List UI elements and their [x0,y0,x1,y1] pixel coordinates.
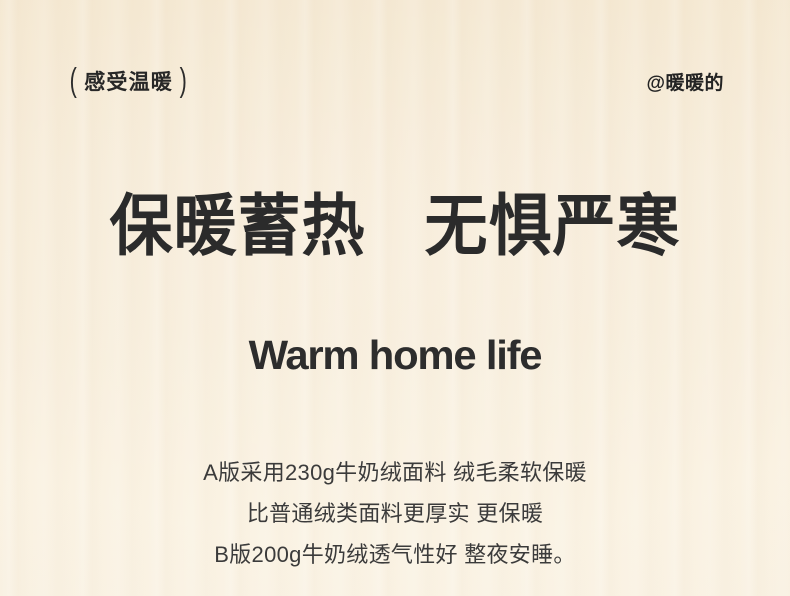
headline-part-1: 保暖蓄热 [109,190,365,264]
eyebrow-tagline: ( 感受温暖 ) [68,66,189,96]
english-subtitle: Warm home life [0,333,790,377]
eyebrow-label: 感受温暖 [80,66,177,96]
body-line-1: A版采用230g牛奶绒面料 绒毛柔软保暖 [0,452,790,493]
body-line-2: 比普通绒类面料更厚实 更保暖 [0,493,790,534]
parenthesis-left-icon: ( [70,64,78,98]
body-line-3: B版200g牛奶绒透气性好 整夜安睡。 [0,534,790,575]
body-copy: A版采用230g牛奶绒面料 绒毛柔软保暖 比普通绒类面料更厚实 更保暖 B版20… [0,452,790,575]
page-title: 保暖蓄热 无惧严寒 [0,194,790,261]
parenthesis-right-icon: ) [180,64,188,98]
header-row: ( 感受温暖 ) @暖暖的 [68,63,724,99]
account-handle: @暖暖的 [646,68,724,95]
promo-poster: ( 感受温暖 ) @暖暖的 保暖蓄热 无惧严寒 Warm home life A… [0,0,790,596]
headline-part-2: 无惧严寒 [425,190,681,264]
